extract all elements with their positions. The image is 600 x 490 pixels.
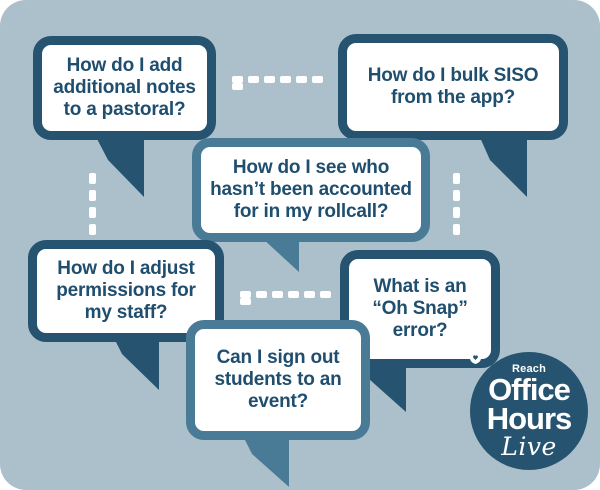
bubble-bulk-siso-app[interactable]: How do I bulk SISO from the app? (338, 34, 568, 140)
badge-line-live: Live (501, 434, 557, 459)
bubble-text: How do I add additional notes to a pasto… (42, 55, 207, 121)
office-hours-live-badge[interactable]: Reach Office Hours Live (470, 352, 588, 470)
bubble-text: How do I adjust permissions for my staff… (37, 258, 215, 324)
bubble-rollcall-accounted[interactable]: How do I see who hasn’t been accounted f… (192, 138, 430, 242)
infographic-canvas: How do I add additional notes to a pasto… (0, 0, 600, 490)
bubble-text: Can I sign out students to an event? (195, 347, 361, 413)
bubble-sign-out-event[interactable]: Can I sign out students to an event? (186, 320, 370, 440)
badge-line-hours: Hours (487, 405, 572, 434)
bubble-text: How do I bulk SISO from the app? (347, 65, 559, 109)
bubble-text: What is an “Oh Snap” error? (349, 276, 491, 342)
bubble-add-notes-pastoral[interactable]: How do I add additional notes to a pasto… (33, 36, 216, 140)
bubble-text: How do I see who hasn’t been accounted f… (201, 157, 421, 223)
shield-icon (470, 352, 481, 364)
